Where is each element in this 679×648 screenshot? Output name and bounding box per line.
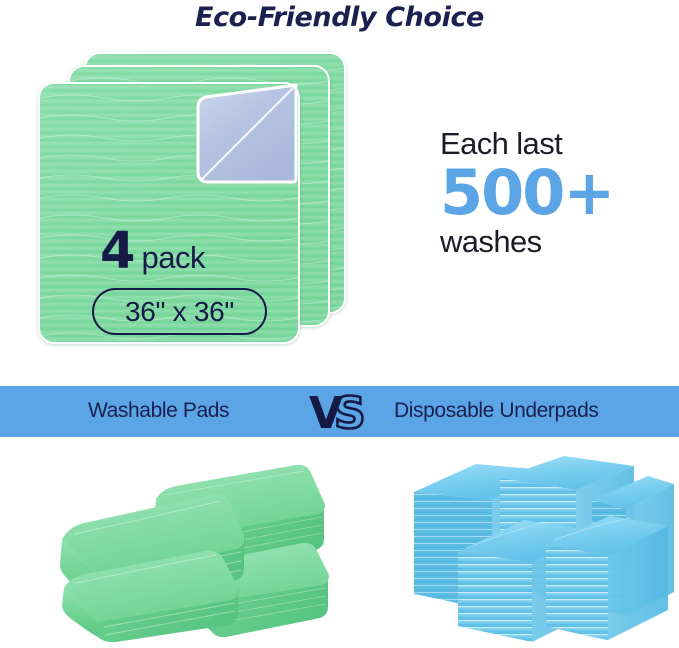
comparison-left-label: Washable Pads	[88, 399, 229, 423]
claim-line-2: washes	[440, 226, 670, 258]
washes-claim: Each last 500+ washes	[440, 128, 670, 258]
comparison-right-label: Disposable Underpads	[394, 399, 598, 423]
pack-count-label: 4 pack	[100, 226, 205, 277]
size-badge-label: 36" x 36"	[125, 296, 234, 328]
hero-pad-graphic: 4 pack 36" x 36"	[38, 52, 348, 357]
claim-highlight: 500+	[440, 162, 670, 224]
pack-count-word: pack	[142, 242, 205, 273]
vs-icon: V S	[309, 387, 379, 437]
washable-pads-photo	[44, 455, 344, 643]
page-title: Eco-Friendly Choice	[0, 2, 679, 33]
pack-count-number: 4	[100, 226, 135, 277]
comparison-band: Washable Pads V S Disposable Underpads	[0, 386, 679, 437]
disposable-underpads-photo	[396, 452, 676, 643]
svg-text:S: S	[334, 388, 366, 437]
size-badge: 36" x 36"	[92, 288, 267, 335]
